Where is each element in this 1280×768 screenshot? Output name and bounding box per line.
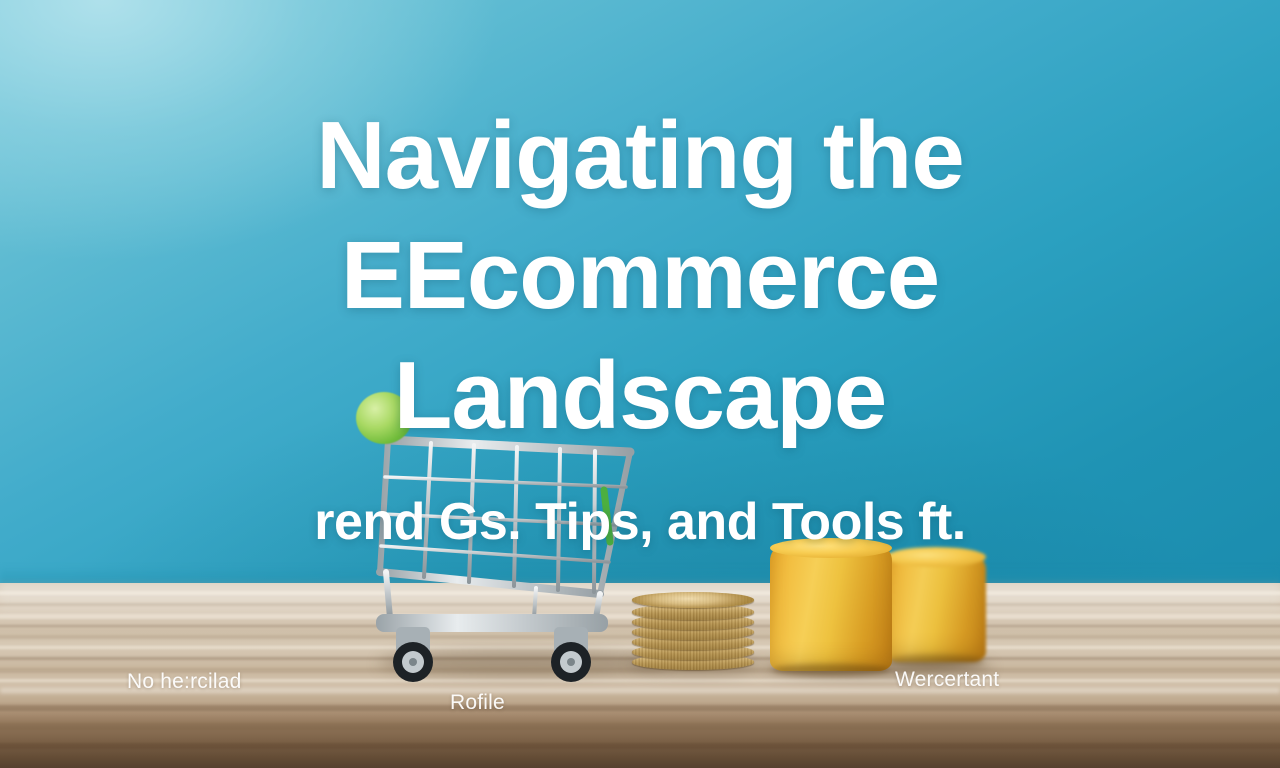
shopping-cart-icon [368,422,673,677]
yellow-cylinder-back [886,556,986,662]
green-apple-icon [356,392,412,444]
cart-wheel [393,627,433,682]
cart-wheel [551,627,591,682]
coin-stack [632,592,754,670]
yellow-cylinder-front [770,547,892,671]
coin-top [632,592,754,608]
prop-group [0,0,1280,768]
promo-banner: Navigating the EEcommerce Landscape rend… [0,0,1280,768]
